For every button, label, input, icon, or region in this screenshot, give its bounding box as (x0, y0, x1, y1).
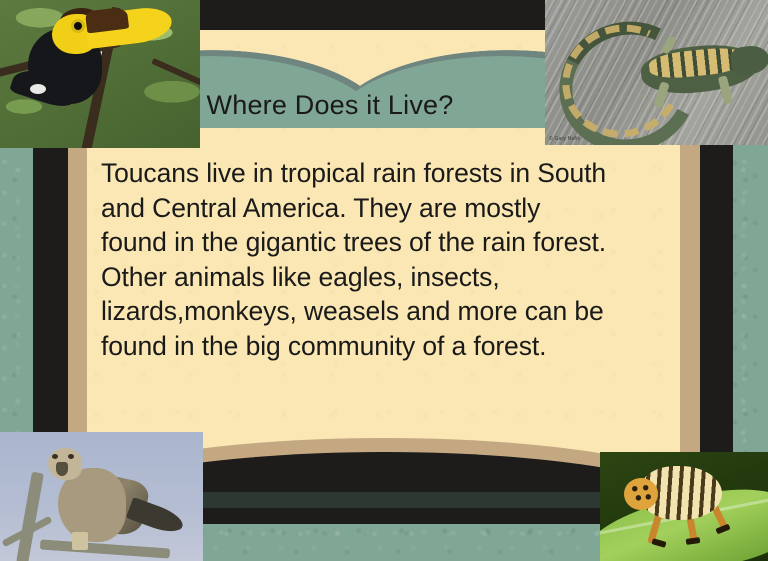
toucan-photo (0, 0, 200, 148)
eagle-eye (68, 454, 74, 459)
eagle-legs (72, 532, 88, 550)
slide-canvas: Where Does it Live? Toucans live in trop… (0, 0, 768, 561)
body-paragraph: Toucans live in tropical rain forests in… (101, 156, 677, 364)
beetle-photo (600, 452, 768, 561)
eagle-beak (56, 462, 68, 476)
toucan-eye (74, 22, 82, 30)
eagle-photo (0, 432, 203, 561)
lizard-photo: © Gary Nafis (545, 0, 768, 145)
beetle-thorax-spots (628, 482, 654, 506)
eagle-eye (52, 454, 58, 459)
toucan-wing-marking (30, 84, 46, 94)
branch-shape (40, 539, 170, 558)
photo-credit: © Gary Nafis (549, 136, 580, 142)
